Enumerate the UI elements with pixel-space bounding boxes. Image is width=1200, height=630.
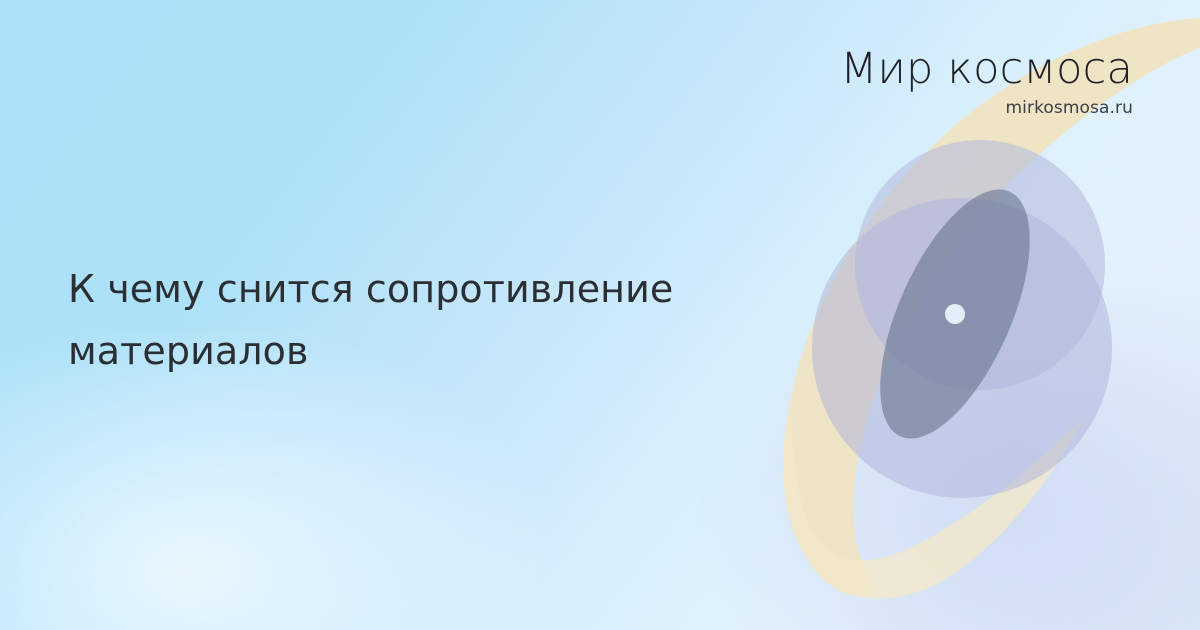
banner: Мир космоса mirkosmosa.ru К чему снится … <box>0 0 1200 630</box>
center-white-dot <box>945 304 965 324</box>
brand-url: mirkosmosa.ru <box>840 100 1133 117</box>
page-title: К чему снится сопротивление материалов <box>68 258 858 382</box>
brand-block: Мир космоса mirkosmosa.ru <box>840 48 1133 117</box>
brand-name: Мир космоса <box>840 48 1133 91</box>
